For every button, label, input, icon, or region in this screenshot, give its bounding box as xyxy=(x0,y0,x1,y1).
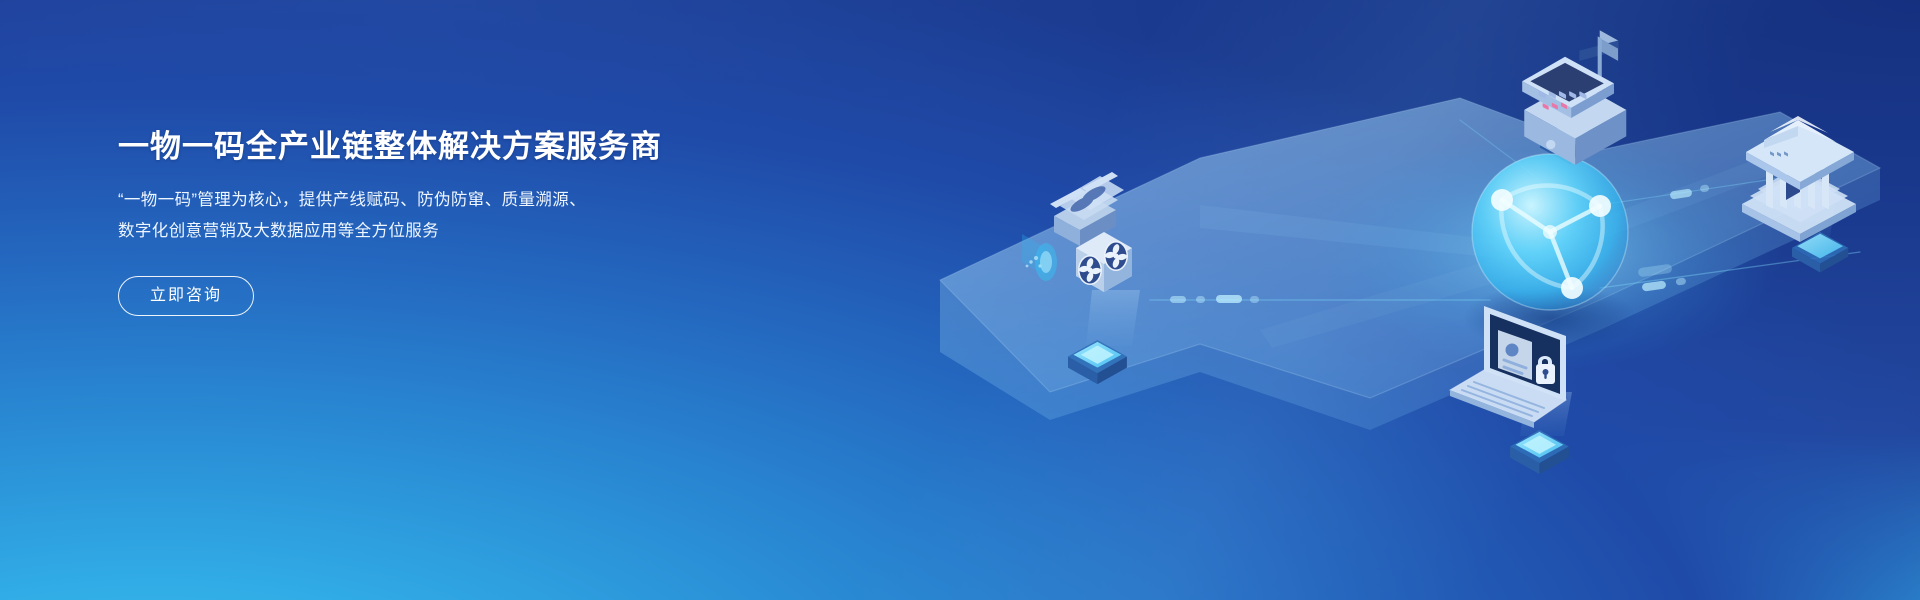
hero-subtitle-line-1: “一物一码”管理为核心，提供产线赋码、防伪防窜、质量溯源、 xyxy=(118,185,738,216)
hero-illustration xyxy=(900,0,1920,600)
page-title: 一物一码全产业链整体解决方案服务商 xyxy=(118,128,738,167)
hero-banner: 一物一码全产业链整体解决方案服务商 “一物一码”管理为核心，提供产线赋码、防伪防… xyxy=(0,0,1920,600)
consult-now-button[interactable]: 立即咨询 xyxy=(118,276,254,316)
hero-subtitle-line-2: 数字化创意营销及大数据应用等全方位服务 xyxy=(118,216,738,247)
hero-copy: 一物一码全产业链整体解决方案服务商 “一物一码”管理为核心，提供产线赋码、防伪防… xyxy=(118,128,738,316)
hero-subtitle: “一物一码”管理为核心，提供产线赋码、防伪防窜、质量溯源、 数字化创意营销及大数… xyxy=(118,185,738,247)
